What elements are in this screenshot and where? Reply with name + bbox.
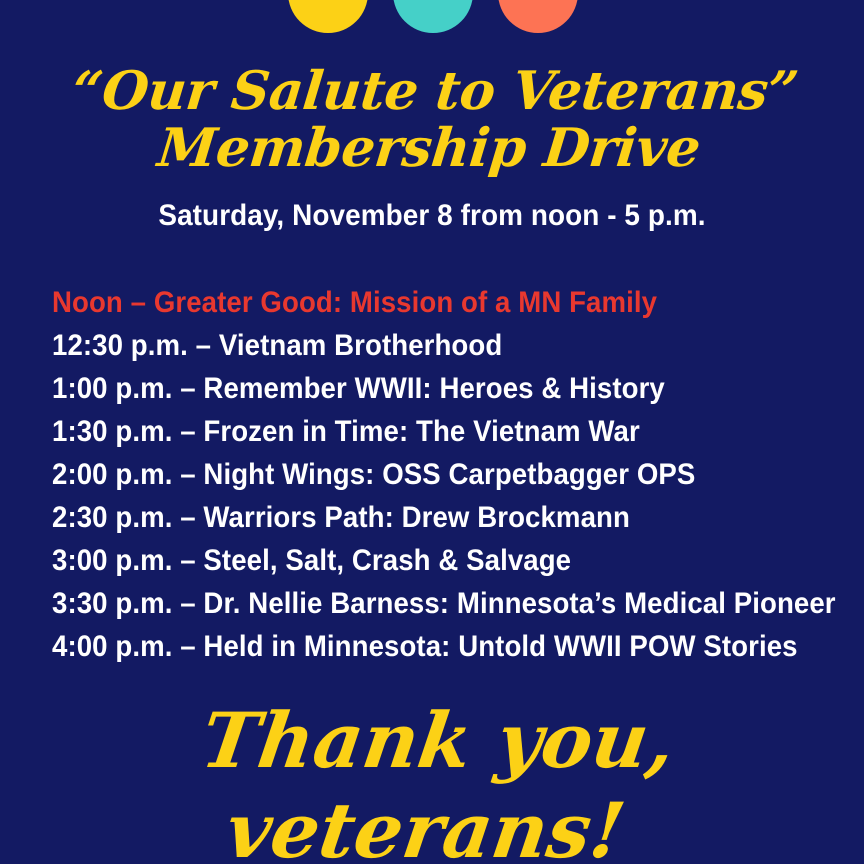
coral-circle-icon bbox=[498, 0, 578, 33]
schedule-item: 12:30 p.m. – Vietnam Brotherhood bbox=[52, 324, 788, 367]
closing-message: Thank you, veterans! bbox=[0, 696, 864, 864]
schedule-item: 2:00 p.m. – Night Wings: OSS Carpetbagge… bbox=[52, 453, 788, 496]
schedule-item: 1:30 p.m. – Frozen in Time: The Vietnam … bbox=[52, 410, 788, 453]
schedule-item: 1:00 p.m. – Remember WWII: Heroes & Hist… bbox=[52, 367, 788, 410]
headline-line-2: Membership Drive bbox=[0, 120, 864, 177]
headline-line-1: “Our Salute to Veterans” bbox=[0, 63, 864, 120]
schedule-item: 2:30 p.m. – Warriors Path: Drew Brockman… bbox=[52, 496, 788, 539]
schedule-list: Noon – Greater Good: Mission of a MN Fam… bbox=[52, 281, 852, 668]
event-poster: “Our Salute to Veterans” Membership Driv… bbox=[0, 0, 864, 864]
schedule-item: 3:30 p.m. – Dr. Nellie Barness: Minnesot… bbox=[52, 582, 788, 625]
yellow-circle-icon bbox=[288, 0, 368, 33]
event-datetime: Saturday, November 8 from noon - 5 p.m. bbox=[30, 199, 834, 233]
poster-headline: “Our Salute to Veterans” Membership Driv… bbox=[0, 63, 864, 177]
schedule-item: 3:00 p.m. – Steel, Salt, Crash & Salvage bbox=[52, 539, 788, 582]
decorative-dot-row bbox=[0, 0, 864, 40]
schedule-item: Noon – Greater Good: Mission of a MN Fam… bbox=[52, 281, 788, 324]
teal-circle-icon bbox=[393, 0, 473, 33]
schedule-item: 4:00 p.m. – Held in Minnesota: Untold WW… bbox=[52, 625, 788, 668]
